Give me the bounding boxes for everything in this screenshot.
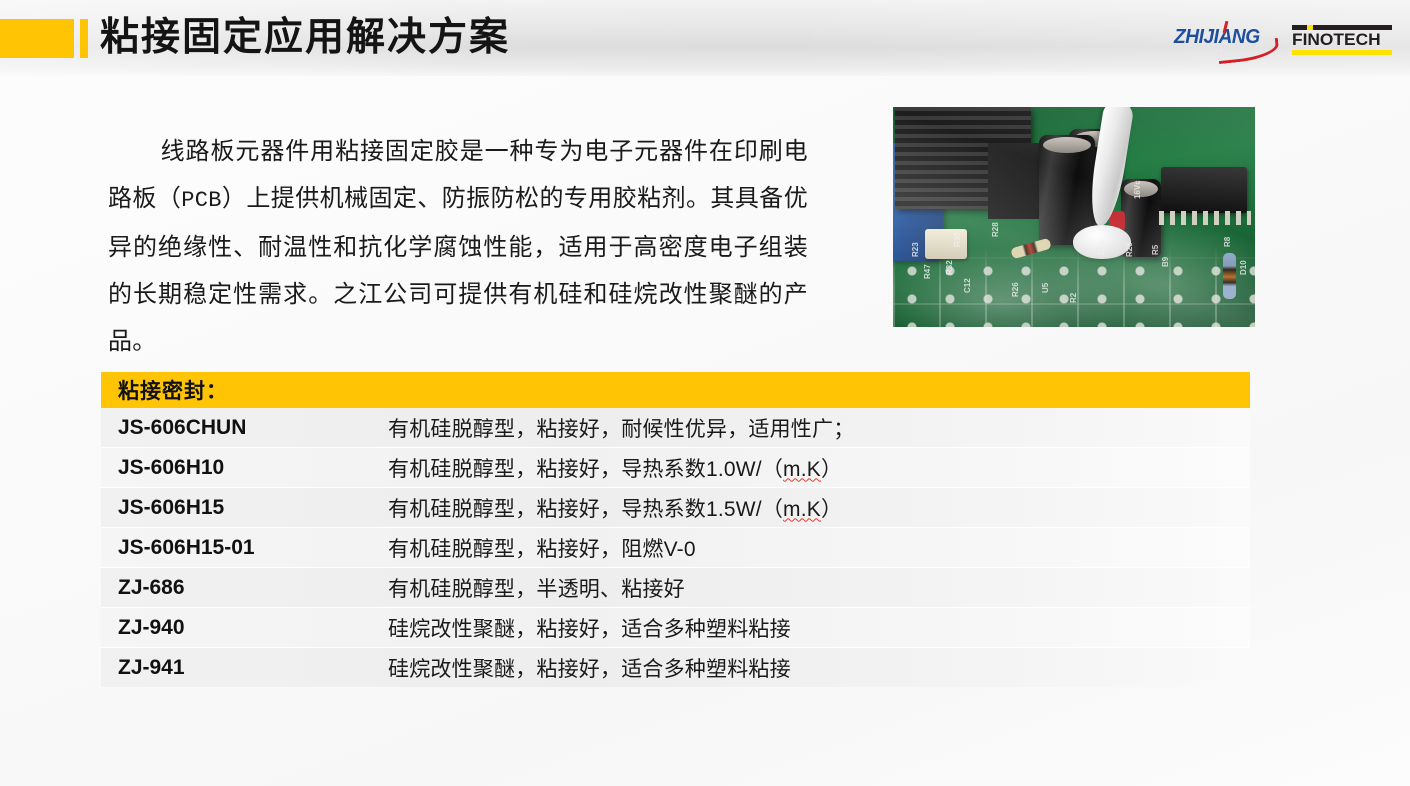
pcb-silkscreen-label: R28	[991, 222, 1000, 237]
pcb-silkscreen-label: U5	[1041, 283, 1050, 293]
product-code: ZJ-686	[101, 576, 388, 600]
table-section-header: 粘接密封：	[101, 372, 1250, 408]
product-code: JS-606H15-01	[101, 536, 388, 560]
pcb-silkscreen-label: C12	[963, 278, 972, 293]
pcb-application-photo: R23R47R32C12R26R30R28R5U5D12R25B9R8D10R2…	[893, 107, 1255, 327]
pcb-silkscreen-label: R26	[1011, 282, 1020, 297]
pcb-silkscreen-label: R8	[1223, 237, 1232, 247]
table-row[interactable]: ZJ-940硅烷改性聚醚，粘接好，适合多种塑料粘接	[101, 608, 1250, 648]
finotech-logo-text: FINOTECH	[1292, 31, 1394, 49]
pcb-silkscreen-label: R2	[1069, 293, 1078, 303]
header-accent-block	[0, 19, 74, 58]
table-row[interactable]: JS-606CHUN有机硅脱醇型，粘接好，耐候性优异，适用性广；	[101, 408, 1250, 448]
product-code: JS-606H15	[101, 496, 388, 520]
description-text: 有机硅脱醇型，粘接好，导热系数1.5W/（	[388, 498, 783, 521]
description-text: 有机硅脱醇型，粘接好，导热系数1.0W/（	[388, 458, 783, 481]
product-code: ZJ-940	[101, 616, 388, 640]
table-row[interactable]: ZJ-686有机硅脱醇型，半透明、粘接好	[101, 568, 1250, 608]
table-body: JS-606CHUN有机硅脱醇型，粘接好，耐候性优异，适用性广；JS-606H1…	[101, 408, 1250, 687]
pcb-silkscreen-label: R32	[945, 260, 954, 275]
table-section-label: 粘接密封：	[118, 375, 228, 405]
table-row[interactable]: JS-606H10有机硅脱醇型，粘接好，导热系数1.0W/（m.K）	[101, 448, 1250, 488]
ic-pins	[1159, 211, 1251, 225]
product-description: 硅烷改性聚醚，粘接好，适合多种塑料粘接	[388, 653, 1250, 683]
slide-header: 粘接固定应用解决方案 ZHIJIANG FINOTECH	[0, 0, 1410, 76]
pcb-silkscreen-label: B9	[1161, 257, 1170, 267]
pcb-silkscreen-label: R23	[911, 242, 920, 257]
pcb-silkscreen-label: R30	[953, 232, 962, 247]
description-text-tail: ）	[821, 458, 842, 481]
product-description: 有机硅脱醇型，粘接好，导热系数1.5W/（m.K）	[388, 493, 1250, 523]
table-row[interactable]: JS-606H15有机硅脱醇型，粘接好，导热系数1.5W/（m.K）	[101, 488, 1250, 528]
description-text-tail: ）	[821, 498, 842, 521]
pcb-silkscreen-label: R25	[1125, 242, 1134, 257]
zhijiang-logo: ZHIJIANG	[1174, 24, 1278, 56]
header-accent-stripe	[80, 19, 88, 58]
product-description: 有机硅脱醇型，粘接好，阻燃V-0	[388, 533, 1250, 563]
product-description: 有机硅脱醇型，粘接好，导热系数1.0W/（m.K）	[388, 453, 1250, 483]
pcb-silkscreen-label: D12	[1097, 240, 1106, 255]
pcb-silkscreen-label: R47	[923, 264, 932, 279]
page-title: 粘接固定应用解决方案	[100, 12, 510, 64]
product-description: 有机硅脱醇型，半透明、粘接好	[388, 573, 1250, 603]
intro-paragraph: 线路板元器件用粘接固定胶是一种专为电子元器件在印刷电路板（PCB）上提供机械固定…	[108, 128, 808, 365]
resistor-2	[1223, 253, 1236, 299]
finotech-logo: FINOTECH	[1292, 24, 1392, 56]
product-code: JS-606CHUN	[101, 416, 388, 440]
slide-root: 粘接固定应用解决方案 ZHIJIANG FINOTECH 线路板元器件用粘接固定…	[0, 0, 1410, 786]
pcb-silkscreen-label: 16Vc	[1133, 180, 1142, 199]
spellcheck-underlined-text: m.K	[783, 458, 821, 481]
pcb-silkscreen-label: D10	[1239, 260, 1248, 275]
ic-chip	[1161, 167, 1247, 213]
product-description: 有机硅脱醇型，粘接好，耐候性优异，适用性广；	[388, 413, 1250, 443]
product-code: ZJ-941	[101, 656, 388, 680]
table-row[interactable]: ZJ-941硅烷改性聚醚，粘接好，适合多种塑料粘接	[101, 648, 1250, 687]
intro-text-mono: PCB	[181, 188, 222, 213]
table-row[interactable]: JS-606H15-01有机硅脱醇型，粘接好，阻燃V-0	[101, 528, 1250, 568]
pcb-silkscreen-label: R5	[1151, 245, 1160, 255]
spellcheck-underlined-text: m.K	[783, 498, 821, 521]
product-code: JS-606H10	[101, 456, 388, 480]
product-table: 粘接密封： JS-606CHUN有机硅脱醇型，粘接好，耐候性优异，适用性广；JS…	[101, 372, 1250, 687]
finotech-bottom-bar	[1292, 50, 1392, 55]
logo-group: ZHIJIANG FINOTECH	[1174, 24, 1392, 56]
product-description: 硅烷改性聚醚，粘接好，适合多种塑料粘接	[388, 613, 1250, 643]
